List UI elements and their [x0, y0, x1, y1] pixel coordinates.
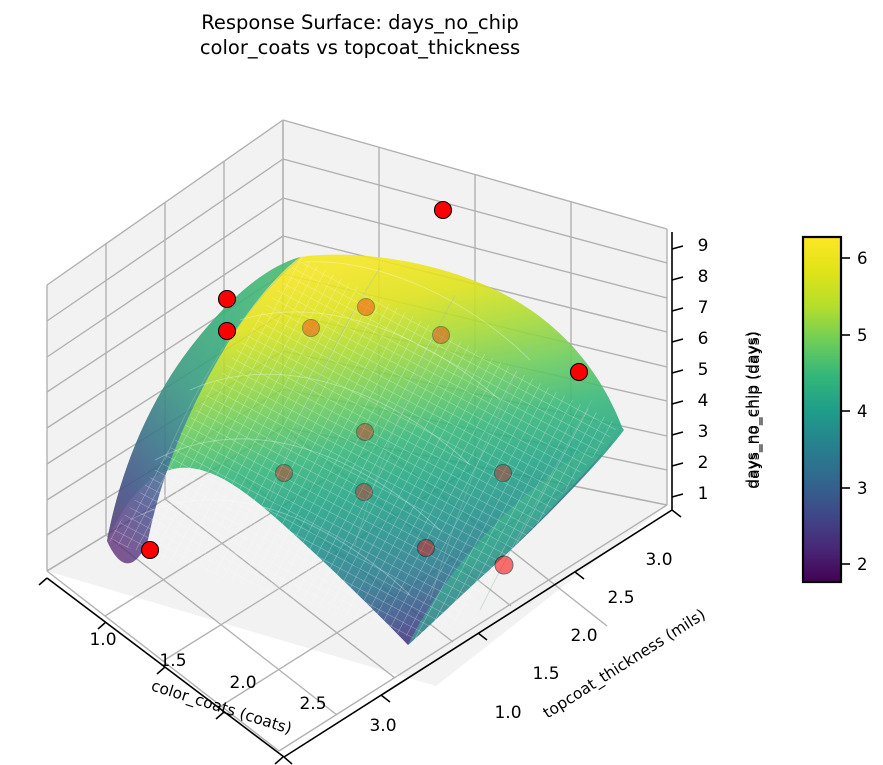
colorbar-tick-label: 5 — [857, 326, 868, 345]
z-tick-label: 6 — [698, 329, 709, 349]
z-tick-label: 9 — [698, 236, 709, 256]
colorbar-gradient — [803, 237, 841, 582]
x-tick-label: 2.5 — [299, 694, 326, 714]
y-tick-label: 3.0 — [645, 550, 672, 570]
z-tick-label: 7 — [698, 298, 709, 318]
colorbar-tick-label: 6 — [857, 249, 868, 268]
z-tick-label: 1 — [698, 484, 709, 504]
x-tick-label: 3.0 — [369, 716, 396, 736]
y-tick-label: 1.0 — [494, 703, 521, 723]
z-tick-label: 5 — [698, 360, 709, 380]
colorbar-tick-label: 2 — [857, 555, 868, 574]
colorbar[interactable]: 6 5 4 3 2 days_no_chip (days) — [745, 237, 868, 582]
x-tick-label: 1.5 — [159, 651, 186, 671]
y-tick-label: 1.5 — [532, 664, 559, 684]
x-tick-label: 1.0 — [89, 630, 116, 650]
colorbar-ticks — [841, 258, 850, 564]
axes-3d: 1.0 1.5 2.0 2.5 3.0 1.0 1.5 2.0 2.5 3.0 … — [0, 0, 883, 765]
z-axis-tick-labels: 9 8 7 6 5 4 3 2 1 — [698, 236, 709, 504]
y-tick-label: 2.5 — [607, 588, 634, 608]
colorbar-title: days_no_chip (days) — [745, 331, 764, 489]
colorbar-tick-label: 4 — [857, 402, 868, 421]
z-tick-label: 4 — [698, 391, 709, 411]
z-tick-label: 2 — [698, 453, 709, 473]
x-tick-label: 2.0 — [229, 673, 256, 693]
z-tick-label: 3 — [698, 422, 709, 442]
x-axis-label: color_coats (coats) — [149, 677, 294, 739]
y-axis-label: topcoat_thickness (mils) — [540, 605, 709, 722]
figure-canvas: Response Surface: days_no_chip color_coa… — [0, 0, 883, 765]
z-axis-ticks — [672, 246, 683, 497]
z-tick-label: 8 — [698, 267, 709, 287]
y-tick-label: 2.0 — [570, 626, 597, 646]
colorbar-tick-label: 3 — [857, 479, 868, 498]
